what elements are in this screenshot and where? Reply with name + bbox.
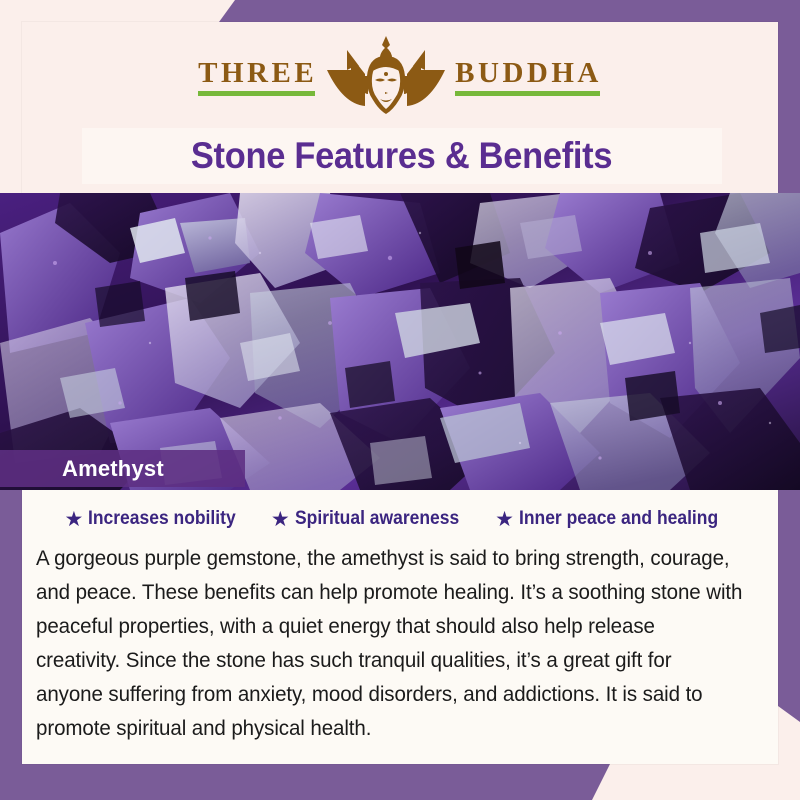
stone-name-banner: Amethyst — [0, 450, 245, 487]
benefit-label: Inner peace and healing — [519, 508, 718, 530]
benefit-label: Spiritual awareness — [295, 508, 459, 530]
brand-word-right: BUDDHA — [455, 59, 602, 96]
star-icon: ★ — [495, 509, 514, 530]
stone-name: Amethyst — [0, 456, 164, 482]
infographic-page: THREE — [0, 0, 800, 800]
stone-description-text: A gorgeous purple gemstone, the amethyst… — [36, 541, 743, 745]
stone-description: A gorgeous purple gemstone, the amethyst… — [36, 541, 776, 745]
page-header: THREE — [22, 22, 778, 193]
star-icon: ★ — [65, 509, 84, 530]
decor-band-top — [219, 0, 800, 22]
amethyst-crystal-illustration — [0, 193, 800, 490]
benefit-label: Increases nobility — [88, 508, 236, 530]
star-icon: ★ — [271, 509, 290, 530]
decor-band-bottom — [0, 764, 610, 800]
buddha-head-lotus-icon — [321, 36, 451, 118]
brand-word-left: THREE — [198, 59, 317, 96]
content-card: THREE — [22, 22, 778, 764]
benefit-item: ★ Inner peace and healing — [495, 508, 735, 530]
decor-band-left — [0, 486, 22, 800]
stone-photo: Amethyst — [0, 193, 800, 490]
page-title: Stone Features & Benefits — [191, 135, 612, 177]
page-title-banner: Stone Features & Benefits — [82, 128, 722, 184]
benefits-list: ★ Increases nobility ★ Spiritual awarene… — [22, 508, 778, 530]
benefit-item: ★ Increases nobility — [65, 508, 249, 530]
brand-logo[interactable]: THREE — [22, 36, 778, 118]
benefit-item: ★ Spiritual awareness — [271, 508, 473, 530]
